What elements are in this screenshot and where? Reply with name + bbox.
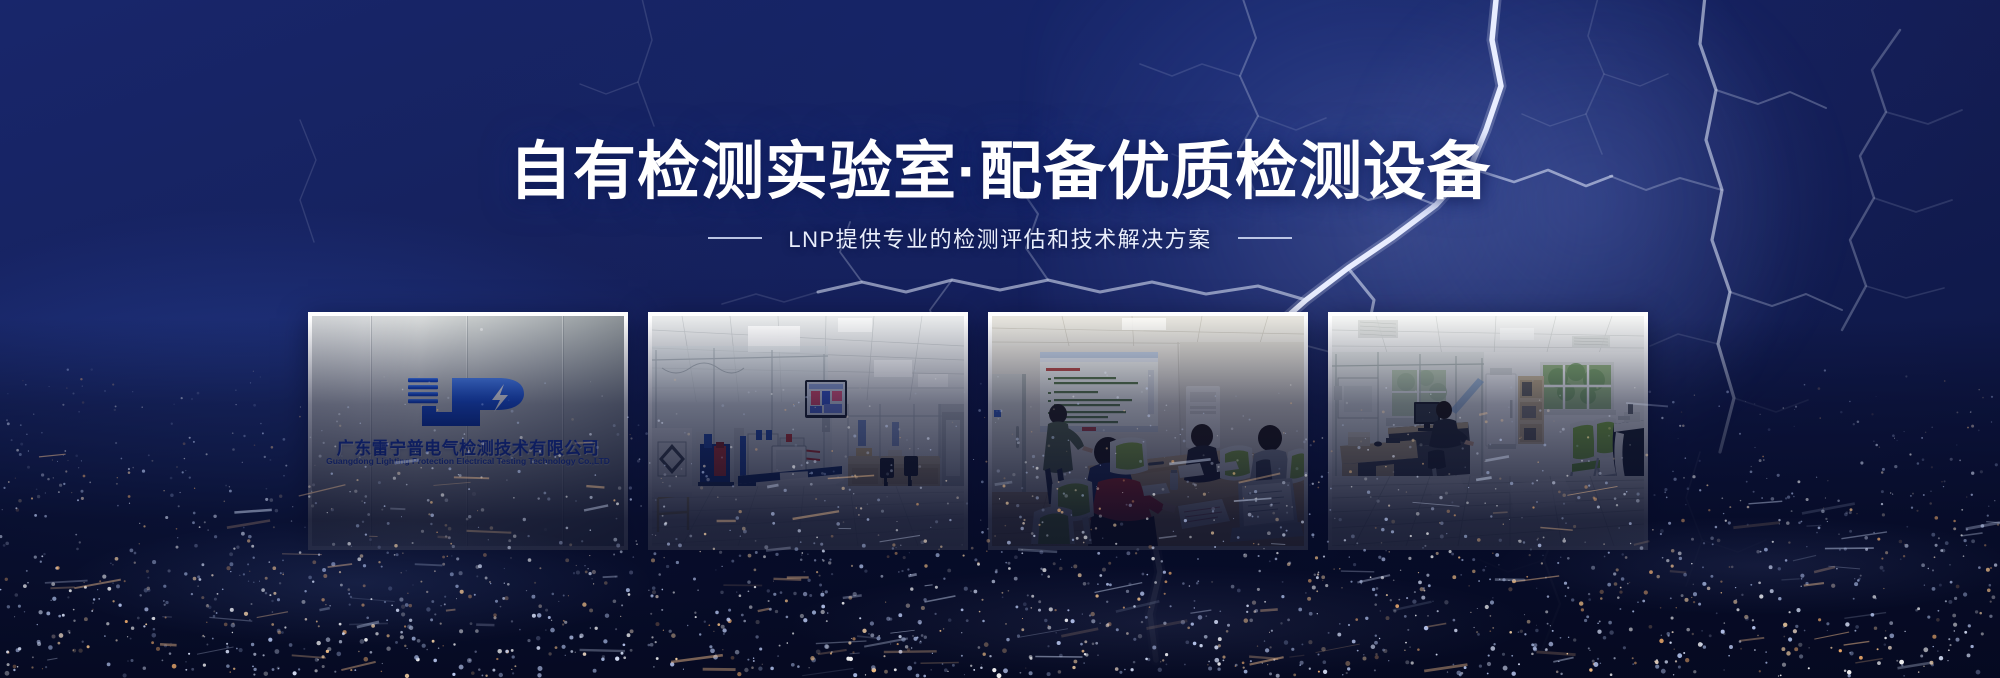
subtitle: LNP提供专业的检测评估和技术解决方案: [788, 222, 1211, 254]
hero-banner: 自有检测实验室·配备优质检测设备 LNP提供专业的检测评估和技术解决方案: [0, 0, 2000, 678]
subtitle-row: LNP提供专业的检测评估和技术解决方案: [0, 222, 2000, 254]
page-title: 自有检测实验室·配备优质检测设备: [0, 138, 2000, 206]
rule-left-icon: [708, 237, 762, 239]
city-haze: [0, 428, 2000, 678]
rule-right-icon: [1238, 237, 1292, 239]
